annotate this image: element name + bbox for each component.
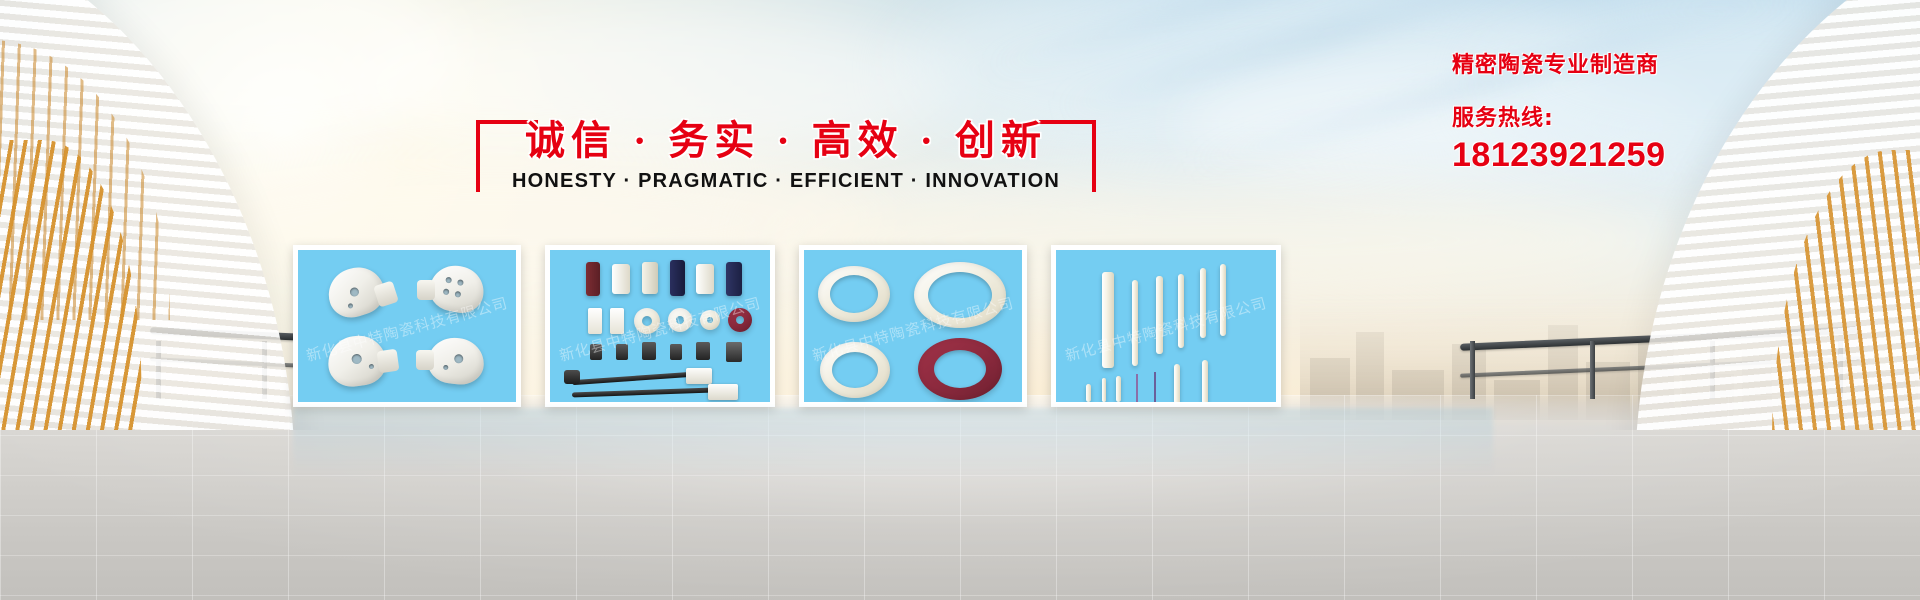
slogan-chinese: 诚信 · 务实 · 高效 · 创新 (476, 108, 1096, 166)
product-panel-ceramic-rods-and-pins[interactable]: 新化县中特陶瓷科技有限公司 (1051, 245, 1281, 407)
hero-banner: 诚信 · 务实 · 高效 · 创新 HONESTY · PRAGMATIC · … (0, 0, 1920, 600)
company-tagline: 精密陶瓷专业制造商 (1452, 52, 1872, 80)
product-panel-ceramic-rings-and-seals[interactable]: 新化县中特陶瓷科技有限公司 (799, 245, 1027, 407)
product-panel-row: 新化县中特陶瓷科技有限公司 (293, 245, 1493, 407)
hotline-label: 服务热线: (1452, 100, 1872, 132)
hotline-number[interactable]: 18123921259 (1452, 136, 1872, 175)
slogan-english: HONESTY · PRAGMATIC · EFFICIENT · INNOVA… (476, 170, 1096, 193)
headline-block: 诚信 · 务实 · 高效 · 创新 HONESTY · PRAGMATIC · … (476, 108, 1096, 204)
architecture-left (0, 0, 330, 430)
contact-block: 精密陶瓷专业制造商 服务热线: 18123921259 (1452, 52, 1872, 175)
panel-watermark: 新化县中特陶瓷科技有限公司 (1063, 292, 1269, 366)
product-panel-ceramic-insulator-caps[interactable]: 新化县中特陶瓷科技有限公司 (293, 245, 521, 407)
product-panel-ceramic-tubes-and-terminals[interactable]: 新化县中特陶瓷科技有限公司 (545, 245, 775, 407)
